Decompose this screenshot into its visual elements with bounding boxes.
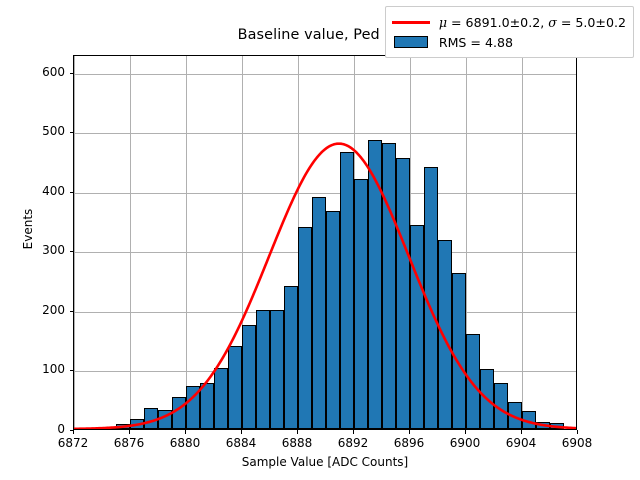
legend-patch-swatch — [392, 35, 430, 49]
x-tick-mark — [73, 430, 74, 434]
y-tick-mark — [70, 430, 74, 431]
legend-label-fit: μ = 6891.0±0.2, σ = 5.0±0.2 — [439, 15, 626, 30]
legend-label-rms: RMS = 4.88 — [439, 35, 513, 50]
y-tick-mark — [70, 132, 74, 133]
y-tick-label: 100 — [19, 362, 65, 376]
y-tick-label: 600 — [19, 65, 65, 79]
gaussian-fit-curve — [74, 56, 576, 429]
x-axis-label: Sample Value [ADC Counts] — [73, 455, 577, 469]
y-tick-mark — [70, 311, 74, 312]
x-tick-mark — [129, 430, 130, 434]
x-tick-mark — [465, 430, 466, 434]
fit-mid-text: = 6891.0±0.2, — [447, 15, 548, 30]
x-tick-mark — [297, 430, 298, 434]
x-tick-mark — [409, 430, 410, 434]
legend-line-swatch — [392, 15, 430, 29]
y-tick-mark — [70, 192, 74, 193]
legend-entry-rms: RMS = 4.88 — [392, 32, 626, 52]
legend: μ = 6891.0±0.2, σ = 5.0±0.2 RMS = 4.88 — [385, 6, 634, 58]
x-tick-mark — [185, 430, 186, 434]
x-tick-mark — [241, 430, 242, 434]
mu-symbol: μ — [439, 15, 447, 30]
fit-end-text: = 5.0±0.2 — [557, 15, 626, 30]
y-tick-mark — [70, 73, 74, 74]
x-tick-mark — [577, 430, 578, 434]
sigma-symbol: σ — [548, 15, 557, 30]
y-axis-label: Events — [21, 129, 35, 329]
y-tick-label: 0 — [19, 422, 65, 436]
x-tick-mark — [521, 430, 522, 434]
y-tick-mark — [70, 370, 74, 371]
x-tick-label: 6908 — [542, 436, 612, 450]
legend-entry-fit: μ = 6891.0±0.2, σ = 5.0±0.2 — [392, 12, 626, 32]
x-tick-mark — [353, 430, 354, 434]
matplotlib-figure: Baseline value, Ped Run 6872687668806884… — [0, 0, 640, 480]
y-tick-mark — [70, 251, 74, 252]
plot-area — [73, 55, 577, 430]
